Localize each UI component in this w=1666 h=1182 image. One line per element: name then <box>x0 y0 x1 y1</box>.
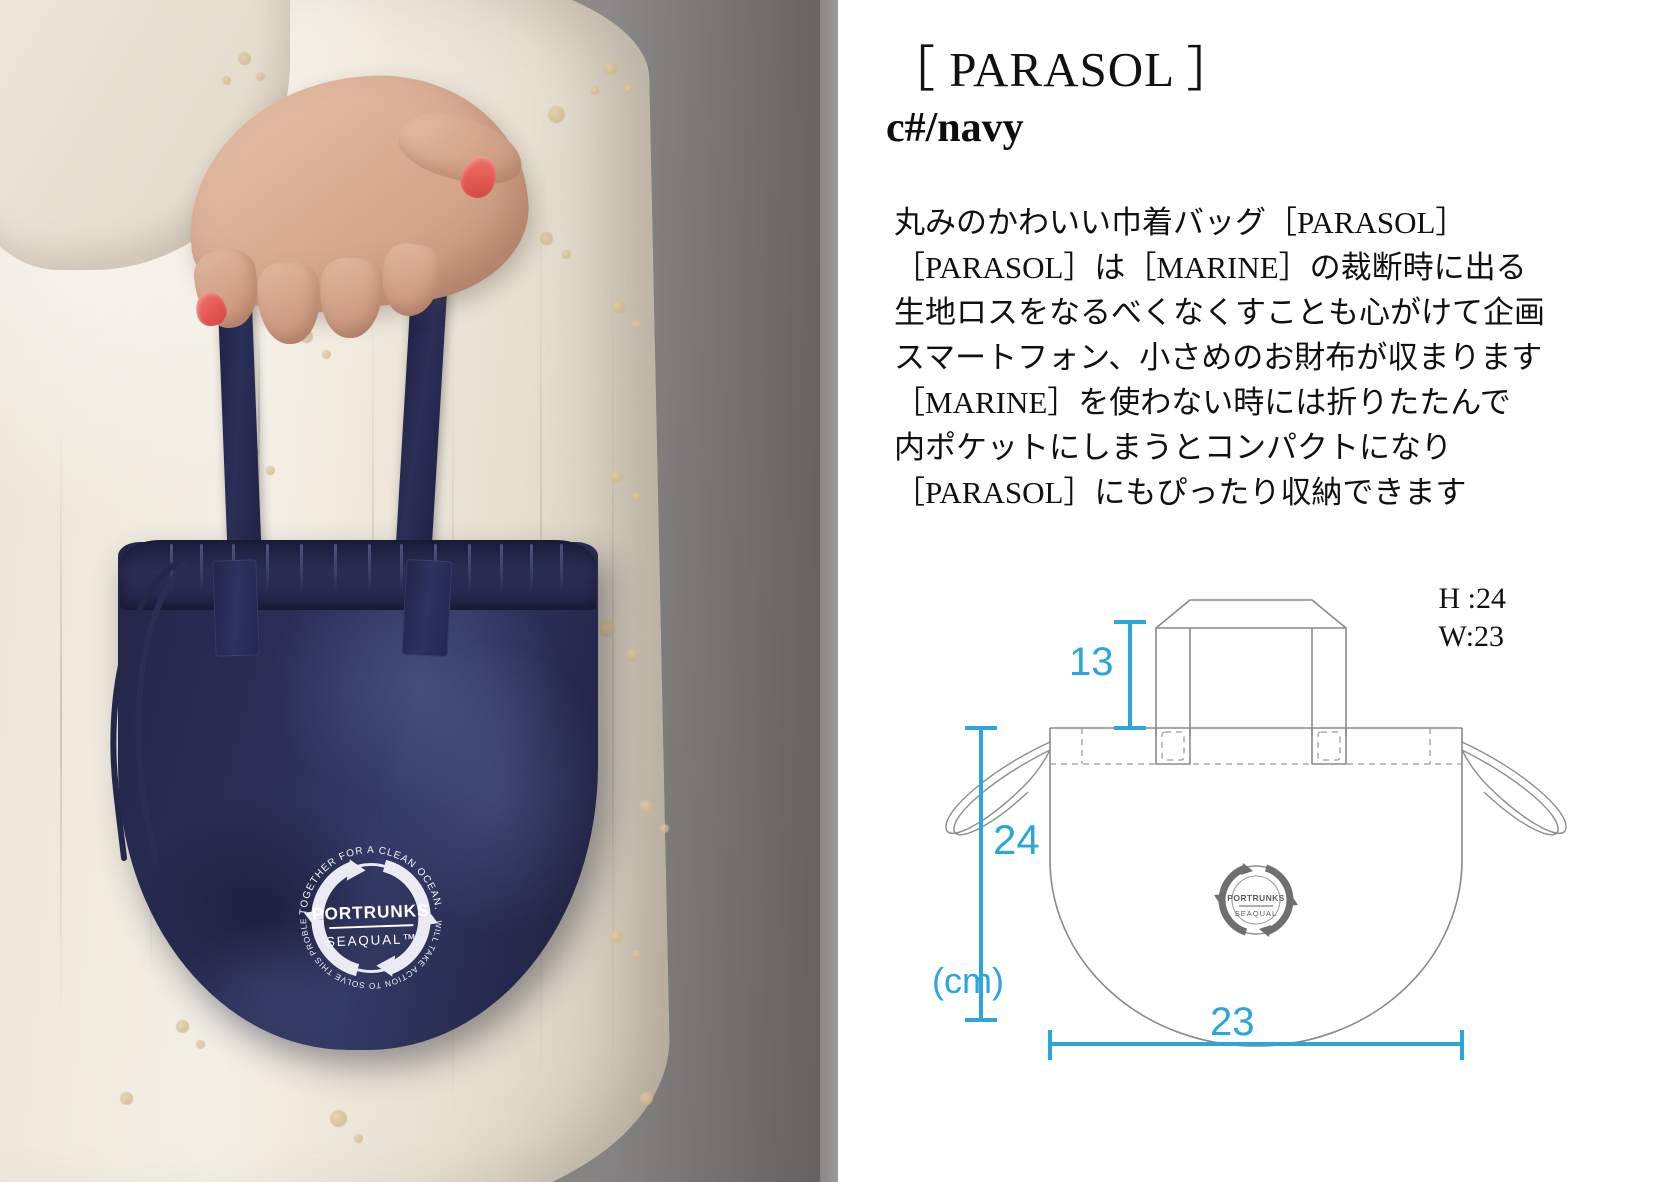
description-line: 丸みのかわいい巾着バッグ［PARASOL］ <box>894 200 1634 245</box>
product-colorway: c#/navy <box>886 104 1024 152</box>
product-description: 丸みのかわいい巾着バッグ［PARASOL］ ［PARASOL］は［MARINE］… <box>894 200 1634 515</box>
description-line: 内ポケットにしまうとコンパクトになり <box>894 425 1634 470</box>
description-line: スマートフォン、小さめのお財布が収まります <box>894 335 1634 380</box>
badge-sub: SEAQUAL™ <box>326 931 418 949</box>
body-width-dimension: 23 <box>1210 1000 1255 1045</box>
description-line: 生地ロスをなるべくなくすことも心がけて企画 <box>894 290 1634 335</box>
strap-tab-right <box>402 559 453 657</box>
photo-edge-strip <box>820 0 838 1182</box>
badge-brand: PORTRUNKS <box>312 900 430 924</box>
drawing-badge-sub: SEAQUAL <box>1235 909 1277 918</box>
description-line: ［MARINE］を使わない時には折りたたんで <box>894 380 1634 425</box>
product-title: ［ PARASOL ］ <box>886 30 1236 101</box>
description-line: ［PARASOL］にもぴったり収納できます <box>894 470 1634 515</box>
product-page: TOGETHER FOR A CLEAN OCEAN. WE WILL TAKE… <box>0 0 1666 1182</box>
drawing-badge-brand: PORTRUNKS <box>1227 893 1284 903</box>
unit-label: (cm) <box>932 960 1004 1002</box>
portrunks-seaqual-badge: TOGETHER FOR A CLEAN OCEAN. WE WILL TAKE… <box>282 829 460 1007</box>
body-height-dimension: 24 <box>993 816 1040 864</box>
handle-drop-dimension: 13 <box>1069 640 1114 685</box>
description-line: ［PARASOL］は［MARINE］の裁断時に出る <box>894 245 1634 290</box>
drawstring-cords <box>50 540 270 870</box>
product-photo: TOGETHER FOR A CLEAN OCEAN. WE WILL TAKE… <box>0 0 838 1182</box>
info-pane: ［ PARASOL ］ c#/navy 丸みのかわいい巾着バッグ［PARASOL… <box>838 0 1666 1182</box>
